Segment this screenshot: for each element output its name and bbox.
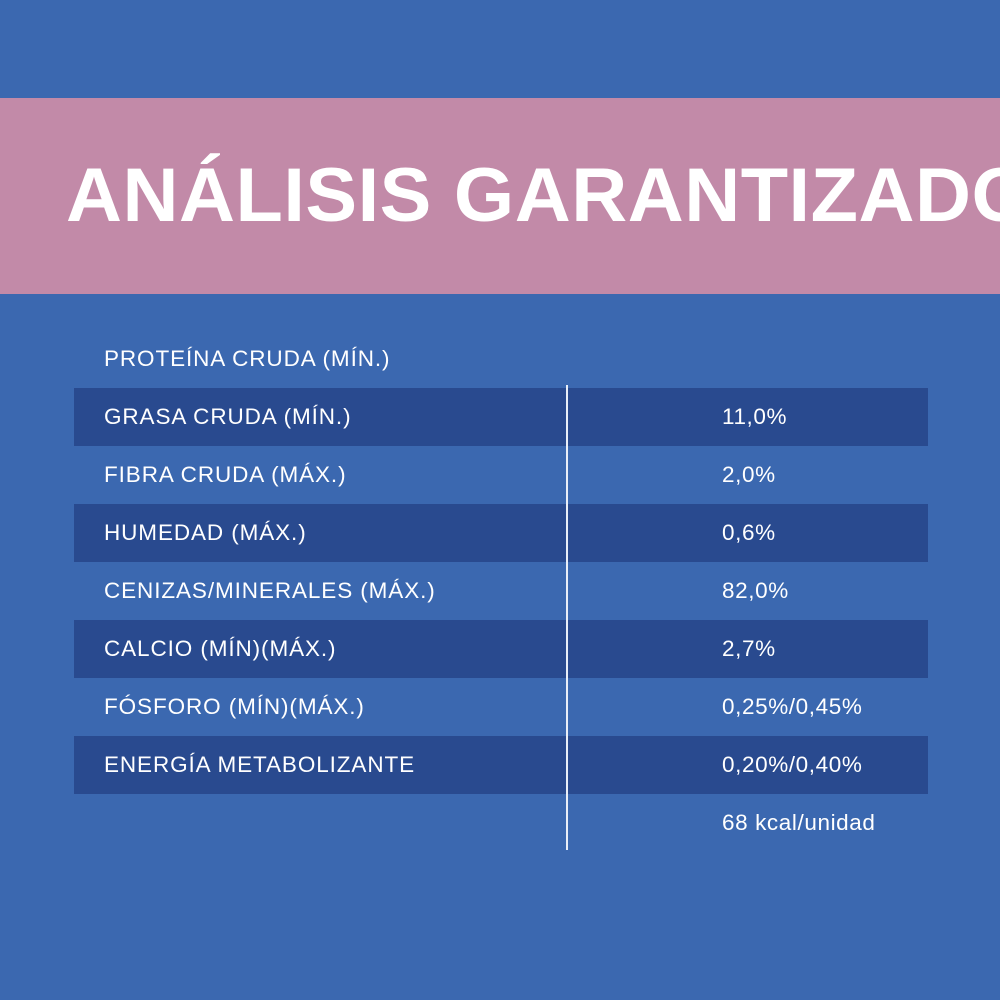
row-label: CALCIO (MÍN)(MÁX.) [74,636,566,662]
table-row: GRASA CRUDA (MÍN.) 11,0% [74,388,928,446]
table-row: CALCIO (MÍN)(MÁX.) 2,7% [74,620,928,678]
row-value: 68 kcal/unidad [566,810,876,836]
column-divider [566,385,568,850]
row-value: 82,0% [566,578,789,604]
table-row: HUMEDAD (MÁX.) 0,6% [74,504,928,562]
row-label: CENIZAS/MINERALES (MÁX.) [74,578,566,604]
table-row: FÓSFORO (MÍN)(MÁX.) 0,25%/0,45% [74,678,928,736]
page-title: ANÁLISIS GARANTIZADO [66,158,1000,234]
table-row: PROTEÍNA CRUDA (MÍN.) [74,330,928,388]
row-value: 11,0% [566,404,787,430]
row-label: ENERGÍA METABOLIZANTE [74,752,566,778]
table-row: CENIZAS/MINERALES (MÁX.) 82,0% [74,562,928,620]
table-row: 68 kcal/unidad [74,794,928,852]
analysis-table: PROTEÍNA CRUDA (MÍN.) GRASA CRUDA (MÍN.)… [74,330,928,852]
row-value: 0,6% [566,520,776,546]
row-label: GRASA CRUDA (MÍN.) [74,404,566,430]
row-value: 0,25%/0,45% [566,694,862,720]
row-value: 2,0% [566,462,776,488]
row-label: PROTEÍNA CRUDA (MÍN.) [74,346,566,372]
row-label: FÓSFORO (MÍN)(MÁX.) [74,694,566,720]
row-label: FIBRA CRUDA (MÁX.) [74,462,566,488]
row-value: 0,20%/0,40% [566,752,862,778]
table-row: FIBRA CRUDA (MÁX.) 2,0% [74,446,928,504]
row-value: 2,7% [566,636,776,662]
table-row: ENERGÍA METABOLIZANTE 0,20%/0,40% [74,736,928,794]
header-banner: ANÁLISIS GARANTIZADO [0,98,1000,294]
row-label: HUMEDAD (MÁX.) [74,520,566,546]
